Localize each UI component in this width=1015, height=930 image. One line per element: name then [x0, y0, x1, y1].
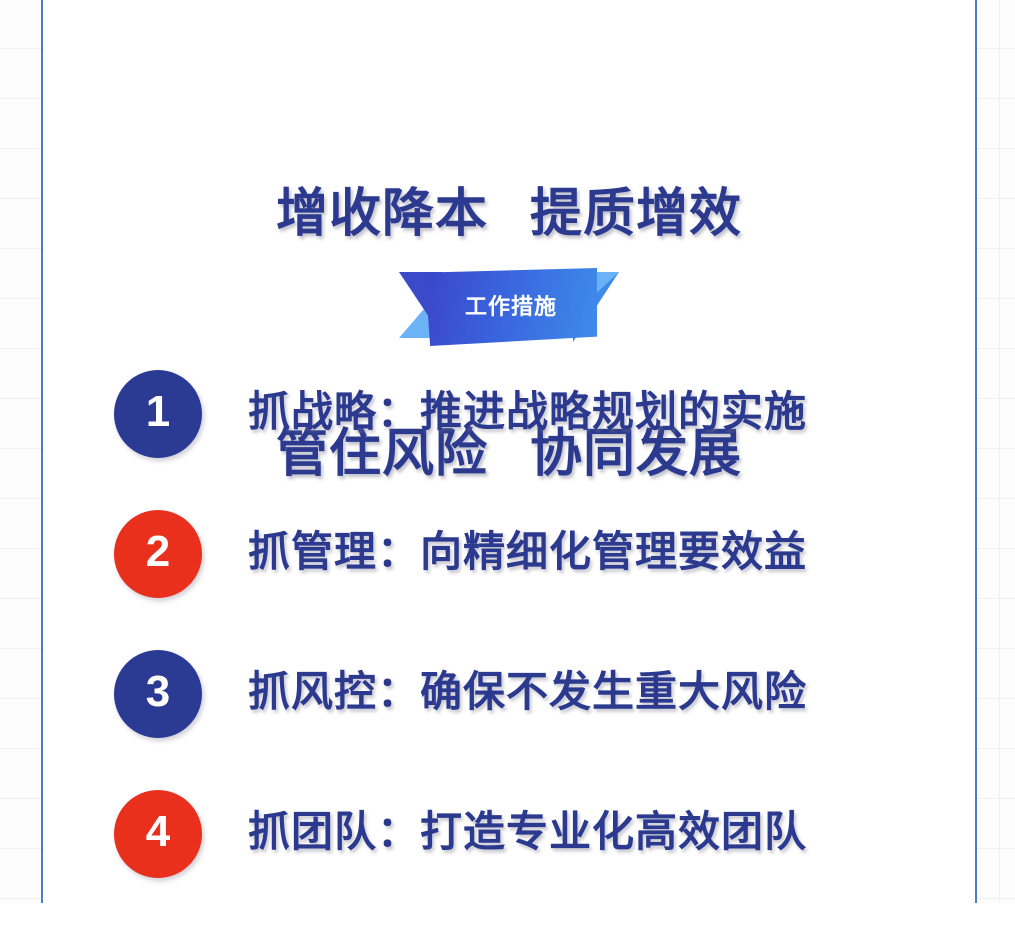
ribbon-banner: 工作措施 [399, 268, 619, 346]
ribbon-body: 工作措施 [425, 268, 597, 346]
right-rule-line [975, 0, 977, 903]
headline-phrase-2: 提质增效 [530, 185, 742, 243]
measure-number-badge: 4 [114, 790, 202, 878]
slide-canvas: 增收降本提质增效 管住风险协同发展 工作措施 1 抓战略：推进战略规划的实施 [43, 0, 975, 903]
right-grid-margin [977, 0, 1015, 903]
measure-number: 1 [146, 390, 170, 434]
headline-line-1: 增收降本提质增效 [43, 174, 975, 254]
measures-list: 1 抓战略：推进战略规划的实施 2 抓管理：向精细化管理要效益 3 抓风控：确保… [43, 370, 975, 930]
measure-number-badge: 1 [114, 370, 202, 458]
measure-number: 4 [146, 810, 170, 854]
list-item: 2 抓管理：向精细化管理要效益 [43, 510, 975, 650]
measure-number-badge: 2 [114, 510, 202, 598]
measure-text: 抓管理：向精细化管理要效益 [248, 522, 807, 582]
slide-page: 增收降本提质增效 管住风险协同发展 工作措施 1 抓战略：推进战略规划的实施 [0, 0, 1015, 903]
measure-number-badge: 3 [114, 650, 202, 738]
banner-label: 工作措施 [465, 289, 557, 321]
measure-number: 3 [146, 670, 170, 714]
list-item: 4 抓团队：打造专业化高效团队 [43, 790, 975, 930]
headline-phrase-1: 增收降本 [276, 185, 488, 243]
list-item: 3 抓风控：确保不发生重大风险 [43, 650, 975, 790]
measure-text: 抓团队：打造专业化高效团队 [248, 802, 807, 862]
measure-number: 2 [146, 530, 170, 574]
list-item: 1 抓战略：推进战略规划的实施 [43, 370, 975, 510]
left-grid-margin [0, 0, 41, 903]
section-banner: 工作措施 [43, 268, 975, 346]
measure-text: 抓战略：推进战略规划的实施 [248, 382, 807, 442]
measure-text: 抓风控：确保不发生重大风险 [248, 662, 807, 722]
